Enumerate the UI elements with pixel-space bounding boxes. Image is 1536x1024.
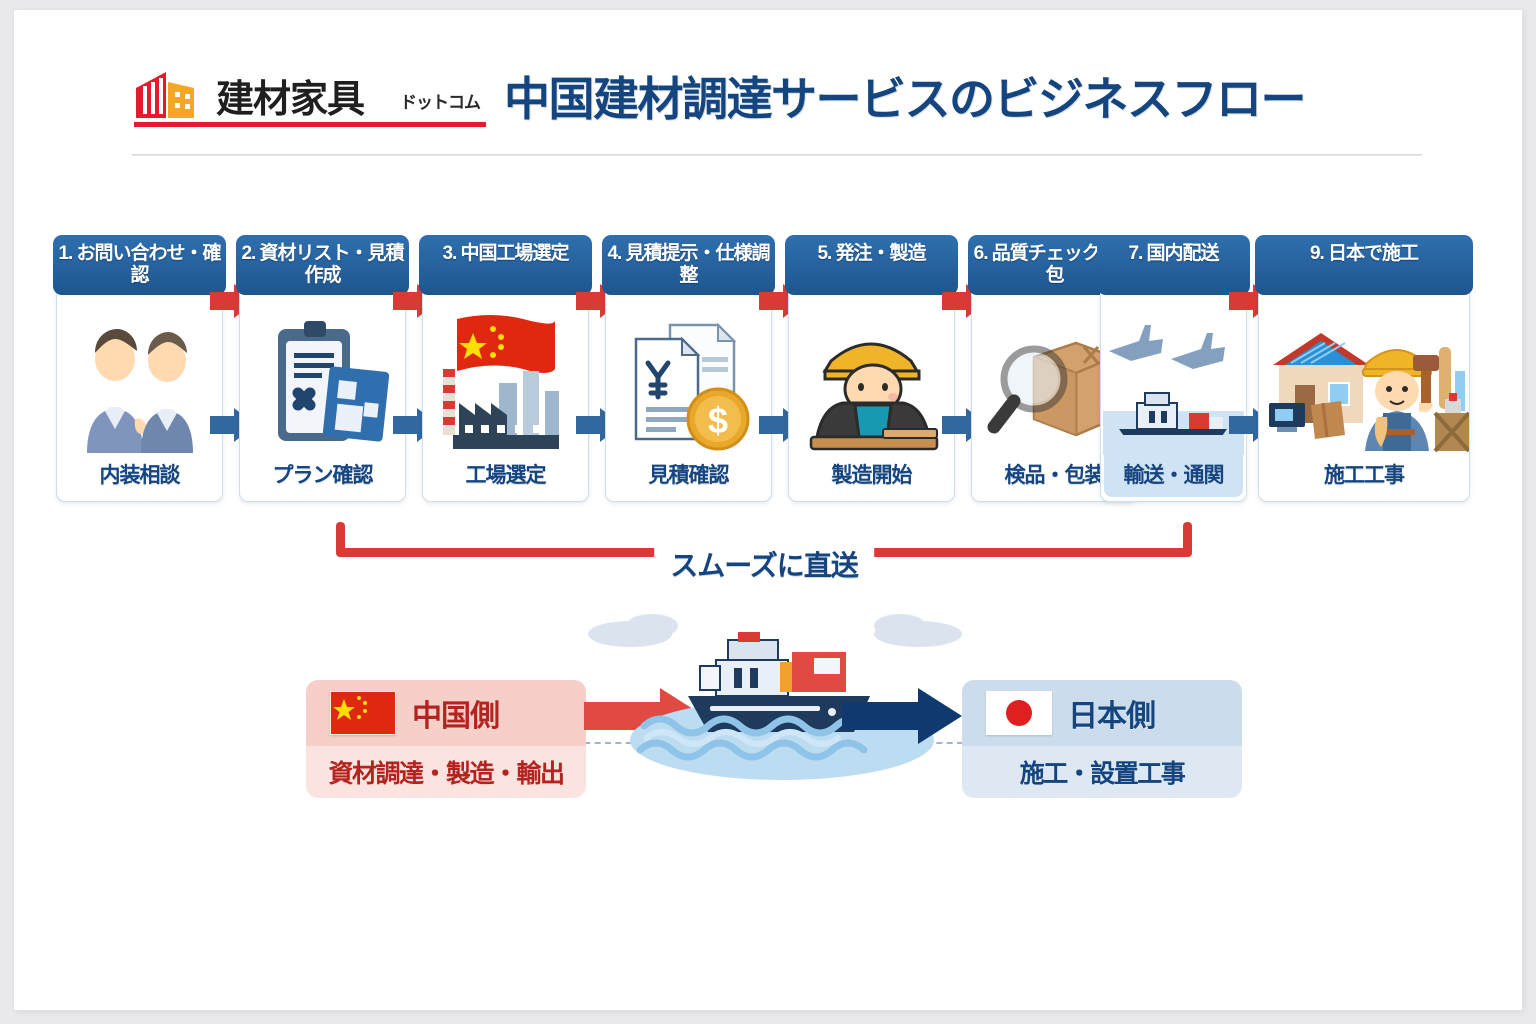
step-heading-5: 5. 発注・製造 [785, 235, 958, 295]
bracket-label: スムーズに直送 [654, 544, 874, 584]
step-caption-5: 製造開始 [789, 459, 954, 489]
logo-wordmark: 建材家具 [216, 68, 364, 123]
china-side-subtitle: 資材調達・製造・輸出 [328, 754, 563, 790]
bracket-right-arm [1183, 522, 1192, 556]
china-side-header: 中国側 [306, 680, 586, 746]
slide-header: 建材家具 ドットコム 中国建材調達サービスのビジネスフロー [14, 58, 1522, 138]
flow-step-card-4[interactable]: 4. 見積提示・仕様調整 $ 見積確認 [605, 238, 772, 502]
clipboard-checklist-icon [240, 311, 405, 461]
step-caption-9: 施工工事 [1259, 459, 1469, 489]
japan-side-box[interactable]: 日本側 施工・設置工事 [962, 680, 1242, 798]
navy-arrow-right-icon [842, 688, 962, 744]
japan-side-subtitle: 施工・設置工事 [1020, 754, 1185, 790]
slide-canvas: 建材家具 ドットコム 中国建材調達サービスのビジネスフロー 1. お問い合わせ・… [14, 10, 1522, 1010]
header-divider [132, 154, 1422, 156]
logo-underline [134, 122, 486, 127]
flow-step-card-5[interactable]: 5. 発注・製造 製造開始 [788, 238, 955, 502]
china-flag-factory-icon [423, 311, 588, 461]
construction-worker-house-icon [1259, 311, 1469, 461]
japan-side-title: 日本側 [1068, 691, 1155, 735]
flow-step-card-1[interactable]: 1. お問い合わせ・確認 内装相談 [56, 238, 223, 502]
china-flag-icon [330, 691, 396, 735]
svg-text:$: $ [708, 400, 728, 441]
china-side-footer: 資材調達・製造・輸出 [306, 746, 586, 798]
flow-step-card-3[interactable]: 3. 中国工場選定 [422, 238, 589, 502]
step-heading-1: 1. お問い合わせ・確認 [53, 235, 226, 295]
carpenter-worker-icon [789, 311, 954, 461]
china-side-title: 中国側 [412, 691, 499, 735]
smooth-direct-bracket: スムーズに直送 [336, 522, 1192, 582]
step-heading-4: 4. 見積提示・仕様調整 [602, 235, 775, 295]
flow-step-card-7[interactable]: 7. 国内配送 輸送・通関 [1100, 238, 1247, 502]
process-flow: 1. お問い合わせ・確認 内装相談 [14, 238, 1522, 503]
step-heading-7: 7. 国内配送 [1097, 235, 1250, 295]
step-caption-2: プラン確認 [240, 459, 405, 489]
step-heading-2: 2. 資材リスト・見積作成 [236, 235, 409, 295]
building-logo-icon [132, 68, 204, 122]
china-side-box[interactable]: 中国側 資材調達・製造・輸出 [306, 680, 586, 798]
step-caption-1: 内装相談 [57, 459, 222, 489]
logo-suffix: ドットコム [400, 88, 480, 113]
step-caption-4: 見積確認 [606, 459, 771, 489]
japan-flag-icon [986, 691, 1052, 735]
country-comparison: 中国側 資材調達・製造・輸出 [14, 590, 1522, 830]
step-caption-3: 工場選定 [423, 459, 588, 489]
two-businessmen-talking-icon [57, 311, 222, 461]
step-caption-7: 輸送・通関 [1101, 459, 1246, 489]
japan-side-header: 日本側 [962, 680, 1242, 746]
flow-step-card-2[interactable]: 2. 資材リスト・見積作成 プラン確認 [239, 238, 406, 502]
step-heading-9: 9. 日本で施工 [1255, 235, 1473, 295]
brand-logo: 建材家具 ドットコム [132, 62, 487, 134]
japan-side-footer: 施工・設置工事 [962, 746, 1242, 798]
flow-step-card-9[interactable]: 9. 日本で施工 [1258, 238, 1470, 502]
invoice-coin-icon: $ [606, 311, 771, 461]
step-heading-3: 3. 中国工場選定 [419, 235, 592, 295]
page-title: 中国建材調達サービスのビジネスフロー [504, 63, 1305, 129]
